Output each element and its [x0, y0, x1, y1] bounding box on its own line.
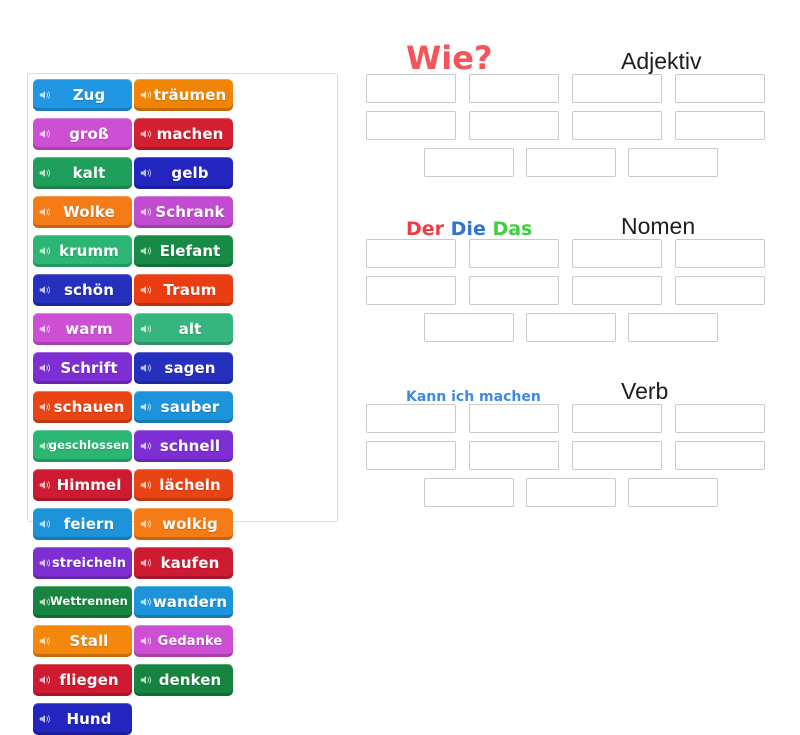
- category-title: Verb: [621, 380, 668, 403]
- word-tile[interactable]: gelb: [134, 157, 233, 189]
- speaker-icon[interactable]: [39, 167, 51, 179]
- word-tile-label: kalt: [60, 166, 106, 181]
- speaker-icon[interactable]: [39, 206, 51, 218]
- category-group: Wie?Adjektiv: [366, 30, 776, 177]
- speaker-icon[interactable]: [140, 89, 152, 101]
- speaker-icon[interactable]: [140, 674, 152, 686]
- slot-row: [366, 74, 776, 103]
- word-tile[interactable]: Zug: [33, 79, 132, 111]
- drop-slot[interactable]: [366, 404, 456, 433]
- word-tile-label: wandern: [140, 595, 227, 610]
- word-tile[interactable]: schnell: [134, 430, 233, 462]
- word-tile[interactable]: Stall: [33, 625, 132, 657]
- word-tile-tray[interactable]: ZugträumengroßmachenkaltgelbWolkeSchrank…: [27, 73, 338, 522]
- word-tile-label: schön: [51, 283, 114, 298]
- speaker-icon[interactable]: [39, 557, 51, 569]
- word-tile[interactable]: lächeln: [134, 469, 233, 501]
- word-tile-label: Gedanke: [145, 635, 223, 648]
- speaker-icon[interactable]: [39, 323, 51, 335]
- word-tile-label: Hund: [53, 712, 111, 727]
- speaker-icon[interactable]: [39, 362, 51, 374]
- word-tile[interactable]: schön: [33, 274, 132, 306]
- drop-slot[interactable]: [675, 276, 765, 305]
- speaker-icon[interactable]: [140, 635, 152, 647]
- word-tile-label: sauber: [148, 400, 220, 415]
- speaker-icon[interactable]: [39, 518, 51, 530]
- speaker-icon[interactable]: [140, 401, 152, 413]
- slot-row: [366, 239, 776, 268]
- word-tile-label: groß: [56, 127, 109, 142]
- word-tile-label: träumen: [141, 88, 227, 103]
- speaker-icon[interactable]: [39, 128, 51, 140]
- word-tile-label: sagen: [151, 361, 215, 376]
- word-tile-label: Zug: [60, 88, 106, 103]
- word-tile-label: streicheln: [39, 557, 126, 570]
- word-tile[interactable]: wolkig: [134, 508, 233, 540]
- word-tile[interactable]: wandern: [134, 586, 233, 618]
- category-prompt: Kann ich machen: [406, 390, 541, 404]
- word-tile[interactable]: Schrank: [134, 196, 233, 228]
- word-tile-label: feiern: [51, 517, 115, 532]
- slot-row: [366, 441, 776, 470]
- word-tile-label: warm: [52, 322, 112, 337]
- word-tile[interactable]: machen: [134, 118, 233, 150]
- speaker-icon[interactable]: [140, 206, 152, 218]
- category-title: Nomen: [621, 215, 695, 238]
- category-prompt-part: Der: [406, 218, 444, 240]
- speaker-icon[interactable]: [140, 323, 152, 335]
- word-tile-label: Wolke: [50, 205, 115, 220]
- drop-slot[interactable]: [424, 313, 514, 342]
- word-tile-label: lächeln: [146, 478, 221, 493]
- speaker-icon[interactable]: [140, 284, 152, 296]
- speaker-icon[interactable]: [39, 479, 51, 491]
- word-tile[interactable]: Gedanke: [134, 625, 233, 657]
- speaker-icon[interactable]: [140, 440, 152, 452]
- word-tile[interactable]: alt: [134, 313, 233, 345]
- word-tile-label: gelb: [158, 166, 208, 181]
- word-tile[interactable]: träumen: [134, 79, 233, 111]
- word-tile-label: machen: [144, 127, 224, 142]
- category-header: Der Die DasNomen: [366, 195, 776, 239]
- speaker-icon[interactable]: [140, 596, 152, 608]
- category-prompt-part: Kann ich machen: [406, 389, 541, 405]
- word-tile-label: denken: [146, 673, 222, 688]
- drop-slot[interactable]: [675, 441, 765, 470]
- slot-row: [366, 148, 776, 177]
- drop-slot[interactable]: [469, 276, 559, 305]
- drop-slot[interactable]: [469, 74, 559, 103]
- speaker-icon[interactable]: [39, 596, 51, 608]
- slot-row: [366, 276, 776, 305]
- word-tile[interactable]: warm: [33, 313, 132, 345]
- drop-slot[interactable]: [469, 404, 559, 433]
- word-tile-label: kaufen: [148, 556, 220, 571]
- drop-slot[interactable]: [572, 239, 662, 268]
- speaker-icon[interactable]: [140, 167, 152, 179]
- category-group: Der Die DasNomen: [366, 195, 776, 342]
- word-tile[interactable]: Hund: [33, 703, 132, 735]
- slot-row: [366, 313, 776, 342]
- word-tile[interactable]: Wolke: [33, 196, 132, 228]
- slot-row: [366, 478, 776, 507]
- category-prompt-part: Wie?: [406, 39, 493, 77]
- word-tile[interactable]: Schrift: [33, 352, 132, 384]
- word-tile[interactable]: kalt: [33, 157, 132, 189]
- word-tile-label: Traum: [151, 283, 217, 298]
- speaker-icon[interactable]: [39, 401, 51, 413]
- word-tile-label: Schrift: [47, 361, 117, 376]
- drop-slot[interactable]: [572, 74, 662, 103]
- word-tile[interactable]: groß: [33, 118, 132, 150]
- drop-slot[interactable]: [366, 74, 456, 103]
- speaker-icon[interactable]: [39, 674, 51, 686]
- drop-slot[interactable]: [469, 111, 559, 140]
- word-tile-label: krumm: [46, 244, 119, 259]
- drop-slot[interactable]: [526, 313, 616, 342]
- word-tile[interactable]: schauen: [33, 391, 132, 423]
- drop-slot[interactable]: [469, 239, 559, 268]
- word-tile[interactable]: sauber: [134, 391, 233, 423]
- slot-row: [366, 111, 776, 140]
- drop-slot[interactable]: [628, 478, 718, 507]
- speaker-icon[interactable]: [140, 479, 152, 491]
- word-tile[interactable]: geschlossen: [33, 430, 132, 462]
- speaker-icon[interactable]: [39, 635, 51, 647]
- word-tile[interactable]: feiern: [33, 508, 132, 540]
- drop-slot[interactable]: [366, 441, 456, 470]
- drop-slot[interactable]: [526, 478, 616, 507]
- drop-slot[interactable]: [366, 111, 456, 140]
- word-tile-label: fliegen: [46, 673, 118, 688]
- word-tile[interactable]: Elefant: [134, 235, 233, 267]
- word-tile-label: Himmel: [44, 478, 122, 493]
- drop-slot[interactable]: [526, 148, 616, 177]
- speaker-icon[interactable]: [140, 245, 152, 257]
- drop-slot[interactable]: [572, 276, 662, 305]
- speaker-icon[interactable]: [39, 89, 51, 101]
- word-tile[interactable]: Himmel: [33, 469, 132, 501]
- speaker-icon[interactable]: [39, 713, 51, 725]
- category-prompt-part: Die: [451, 218, 486, 240]
- word-tile-label: Elefant: [147, 244, 221, 259]
- speaker-icon[interactable]: [39, 245, 51, 257]
- speaker-icon[interactable]: [140, 128, 152, 140]
- drop-slot[interactable]: [572, 441, 662, 470]
- word-tile-label: Schrank: [142, 205, 224, 220]
- word-tile-label: schnell: [147, 439, 220, 454]
- speaker-icon[interactable]: [39, 284, 51, 296]
- category-header: Kann ich machenVerb: [366, 360, 776, 404]
- word-tile-label: wolkig: [149, 517, 218, 532]
- word-tile[interactable]: sagen: [134, 352, 233, 384]
- drop-slot[interactable]: [572, 404, 662, 433]
- speaker-icon[interactable]: [140, 518, 152, 530]
- word-tile[interactable]: fliegen: [33, 664, 132, 696]
- drop-slot[interactable]: [469, 441, 559, 470]
- category-prompt-part: Das: [492, 218, 532, 240]
- word-tile-label: Stall: [57, 634, 109, 649]
- word-tile[interactable]: krumm: [33, 235, 132, 267]
- drop-slot[interactable]: [675, 404, 765, 433]
- category-title: Adjektiv: [621, 50, 702, 73]
- category-header: Wie?Adjektiv: [366, 30, 776, 74]
- speaker-icon[interactable]: [140, 362, 152, 374]
- word-tile[interactable]: denken: [134, 664, 233, 696]
- drop-slot[interactable]: [675, 239, 765, 268]
- category-prompt: Wie?: [406, 42, 493, 74]
- category-group: Kann ich machenVerb: [366, 360, 776, 507]
- word-tile[interactable]: Traum: [134, 274, 233, 306]
- drop-slot[interactable]: [366, 276, 456, 305]
- drop-slot[interactable]: [675, 74, 765, 103]
- word-tile[interactable]: Wettrennen: [33, 586, 132, 618]
- word-tile[interactable]: streicheln: [33, 547, 132, 579]
- drop-slot[interactable]: [572, 111, 662, 140]
- slot-row: [366, 404, 776, 433]
- word-tile[interactable]: kaufen: [134, 547, 233, 579]
- speaker-icon[interactable]: [39, 440, 51, 452]
- drop-slot[interactable]: [628, 148, 718, 177]
- word-tile-label: alt: [166, 322, 202, 337]
- drop-slot[interactable]: [628, 313, 718, 342]
- category-prompt: Der Die Das: [406, 220, 532, 239]
- drop-slot[interactable]: [424, 148, 514, 177]
- drop-slot[interactable]: [675, 111, 765, 140]
- category-list: Wie?AdjektivDer Die DasNomenKann ich mac…: [366, 30, 776, 525]
- speaker-icon[interactable]: [140, 557, 152, 569]
- word-tile-label: schauen: [41, 400, 125, 415]
- drop-slot[interactable]: [366, 239, 456, 268]
- drop-slot[interactable]: [424, 478, 514, 507]
